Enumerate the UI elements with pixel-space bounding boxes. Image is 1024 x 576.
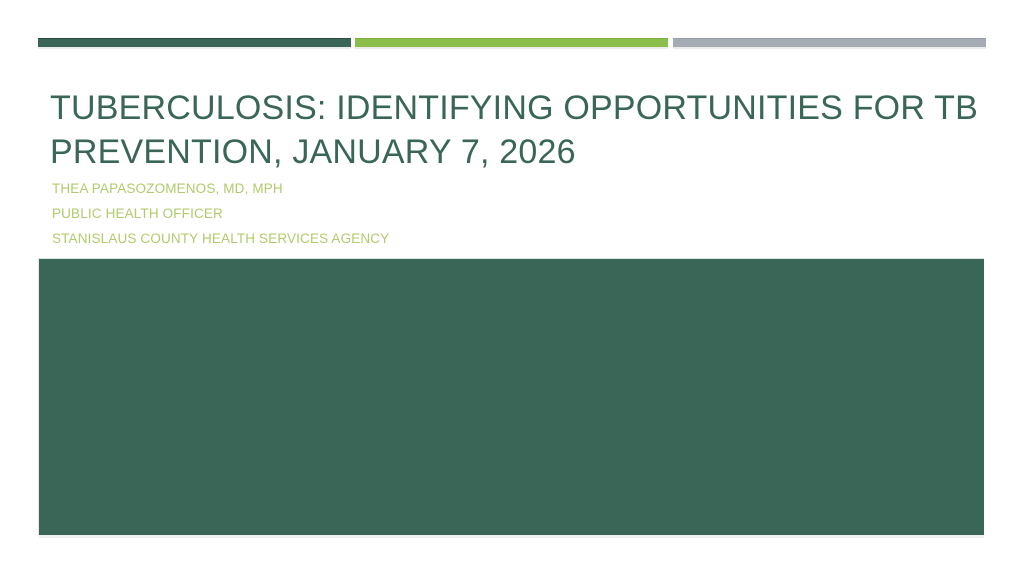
title-line-2: PREVENTION, JANUARY 7, 2026 bbox=[50, 130, 950, 174]
slide-title[interactable]: TUBERCULOSIS: IDENTIFYING OPPORTUNITIES … bbox=[50, 86, 950, 174]
slide-canvas: TUBERCULOSIS: IDENTIFYING OPPORTUNITIES … bbox=[0, 0, 1024, 576]
gray-bar bbox=[673, 38, 986, 47]
decorative-bar-row bbox=[0, 38, 1024, 49]
slide-subtitle[interactable]: THEA PAPASOZOMENOS, MD, MPH PUBLIC HEALT… bbox=[52, 176, 952, 251]
light-green-bar bbox=[355, 38, 668, 47]
subtitle-line-presenter-role: PUBLIC HEALTH OFFICER bbox=[52, 201, 952, 226]
title-line-1: TUBERCULOSIS: IDENTIFYING OPPORTUNITIES … bbox=[50, 86, 950, 130]
subtitle-line-presenter-name: THEA PAPASOZOMENOS, MD, MPH bbox=[52, 176, 952, 201]
dark-green-bar bbox=[38, 38, 351, 47]
subtitle-line-organization: STANISLAUS COUNTY HEALTH SERVICES AGENCY bbox=[52, 226, 952, 251]
content-placeholder[interactable] bbox=[38, 258, 984, 535]
